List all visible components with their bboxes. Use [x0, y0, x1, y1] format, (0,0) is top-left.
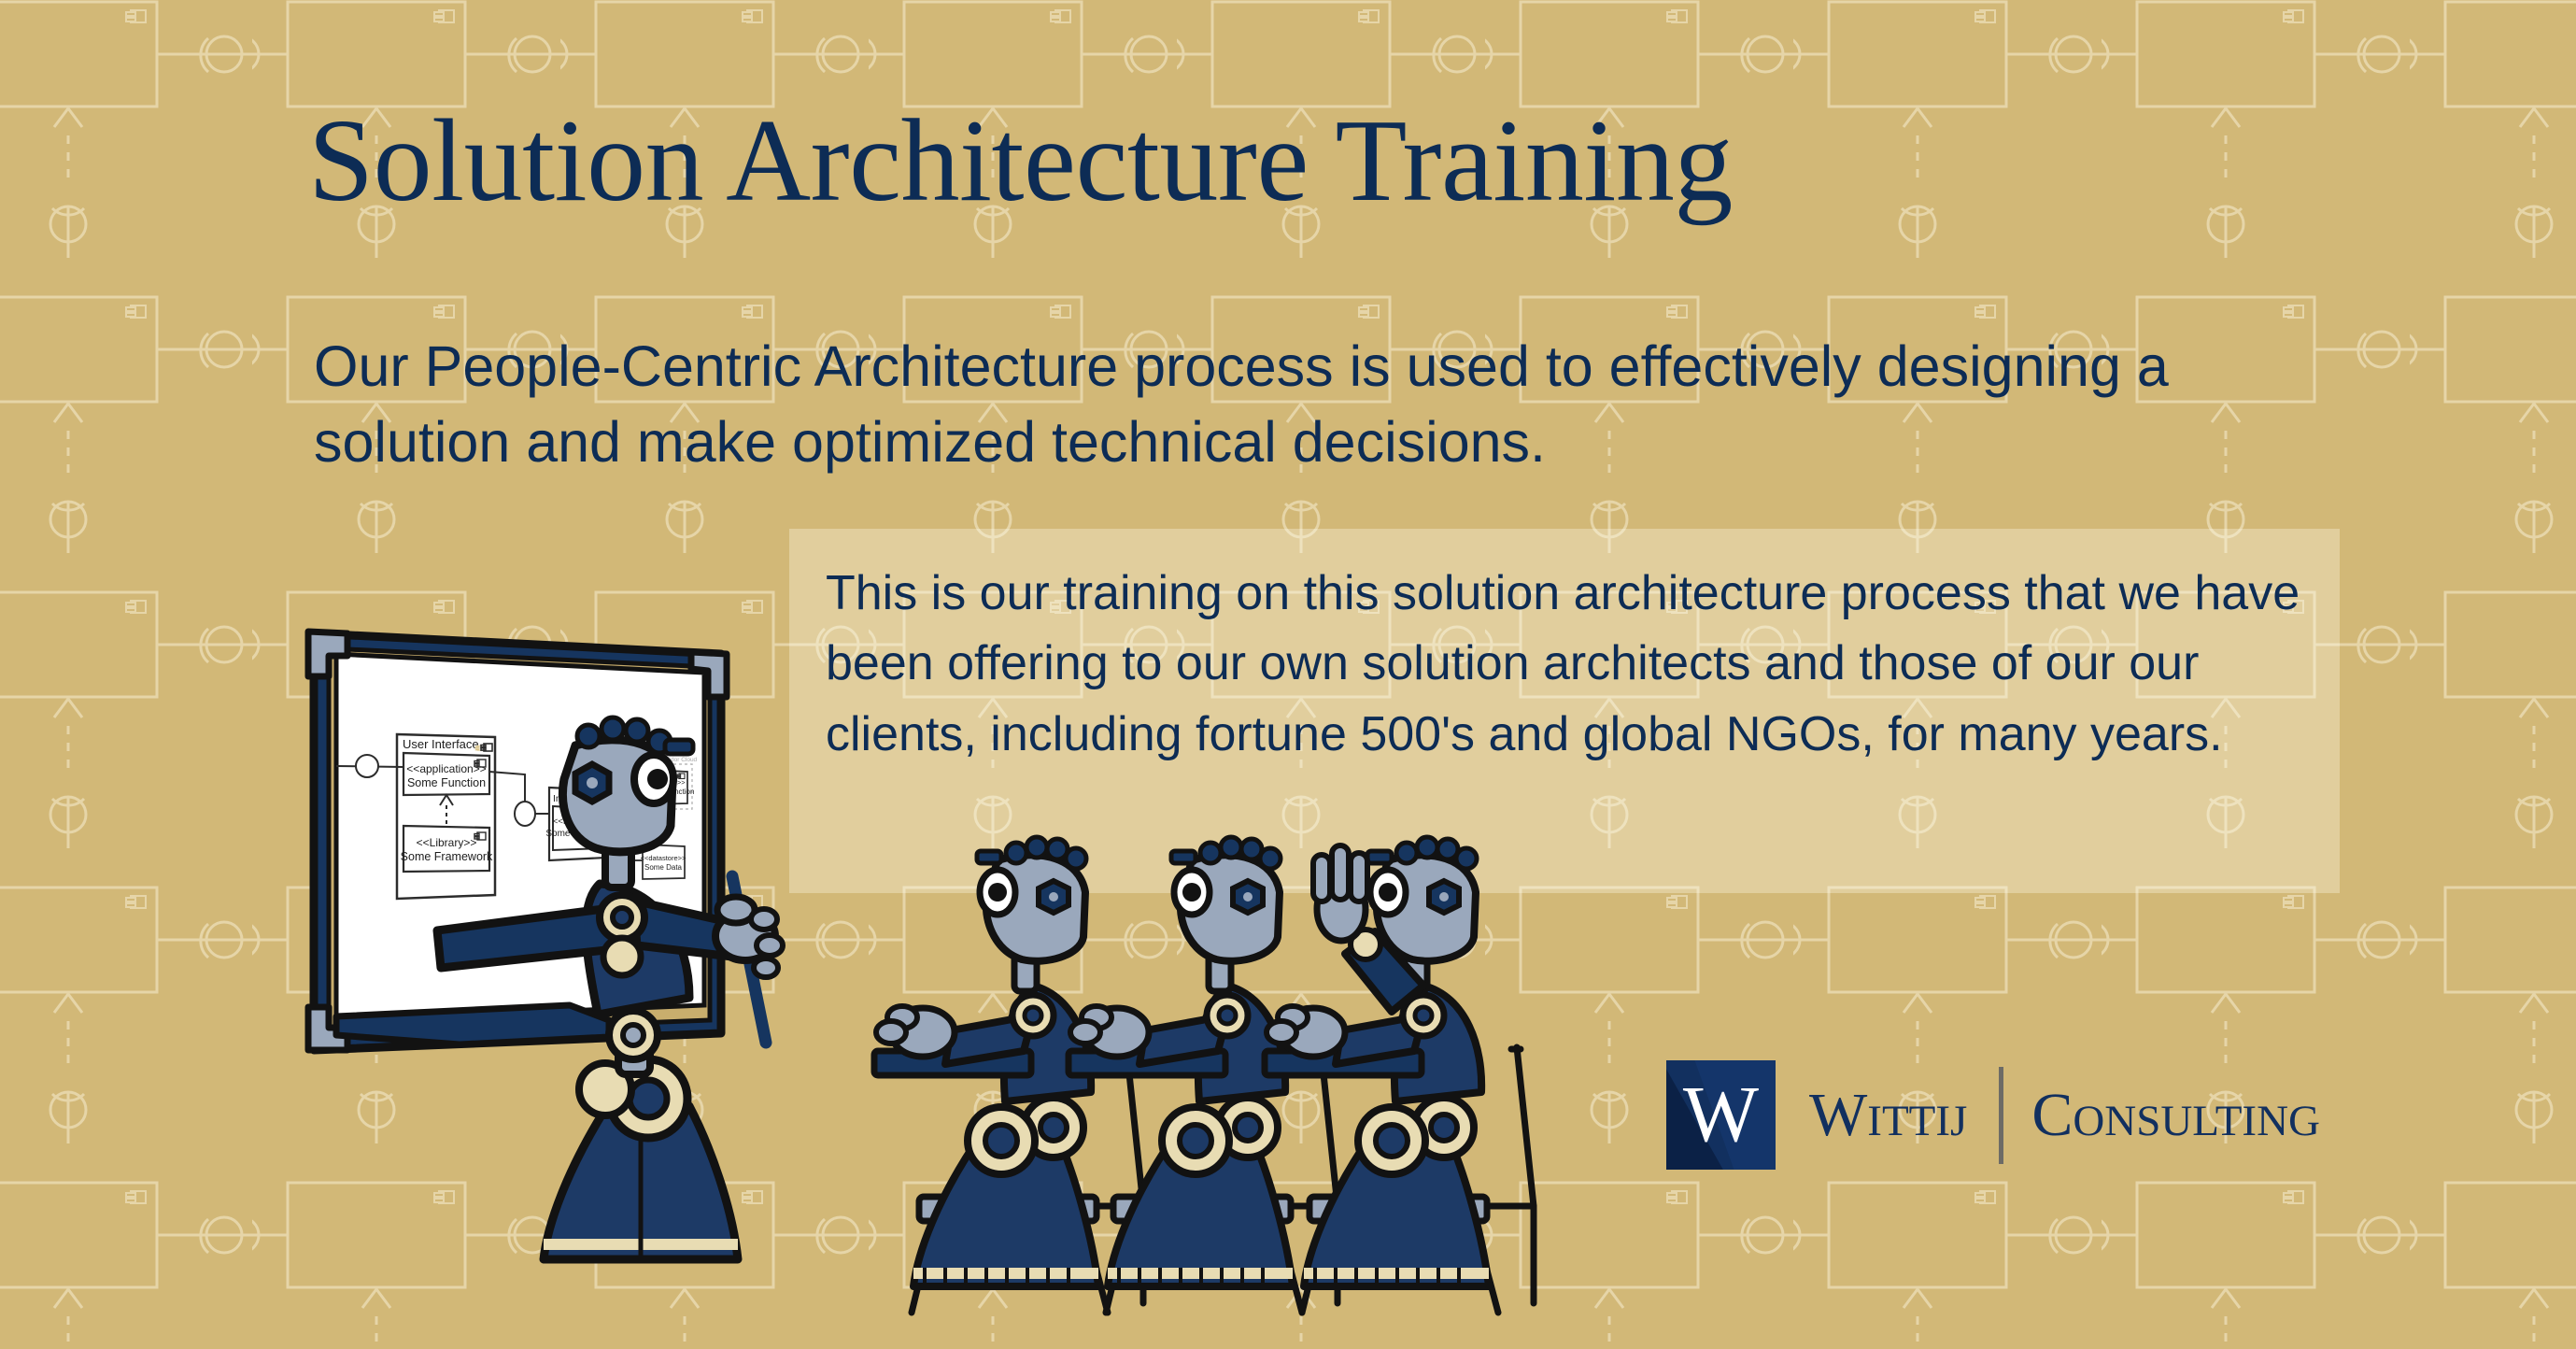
- logo-divider: [1999, 1067, 2003, 1164]
- logo-word-wittij: WITTIJ: [1809, 1085, 1967, 1146]
- logo-word-consulting: CONSULTING: [2031, 1085, 2320, 1146]
- logo-mark: W: [1666, 1060, 1776, 1170]
- wittij-consulting-logo[interactable]: W WITTIJ CONSULTING: [1666, 1060, 2320, 1170]
- logo-word-wittij-cap: W: [1809, 1081, 1867, 1149]
- logo-word-consulting-rest: ONSULTING: [2073, 1097, 2320, 1145]
- page-subtitle: Our People-Centric Architecture process …: [314, 329, 2257, 480]
- logo-word-wittij-rest: ITTIJ: [1867, 1097, 1967, 1145]
- logo-word-consulting-cap: C: [2031, 1081, 2073, 1149]
- body-copy: This is our training on this solution ar…: [826, 559, 2320, 770]
- logo-w-letter: W: [1666, 1060, 1776, 1170]
- page-title: Solution Architecture Training: [308, 103, 1733, 220]
- logo-wordmark: WITTIJ CONSULTING: [1809, 1067, 2320, 1164]
